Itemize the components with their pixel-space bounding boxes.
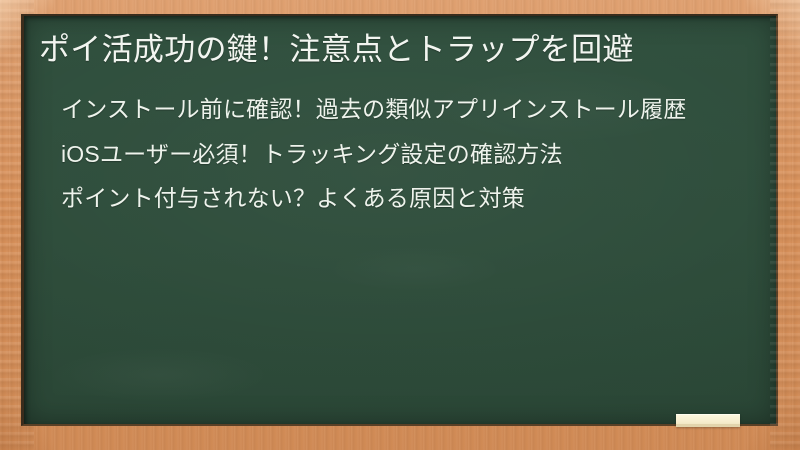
board-content: ポイ活成功の鍵！注意点とトラップを回避 インストール前に確認！過去の類似アプリイ… (24, 16, 776, 214)
chalk-eraser-icon (676, 414, 740, 427)
list-item: iOSユーザー必須！トラッキング設定の確認方法 (61, 139, 733, 170)
list-item: インストール前に確認！過去の類似アプリインストール履歴 (61, 94, 733, 125)
chalkboard-wooden-frame: ポイ活成功の鍵！注意点とトラップを回避 インストール前に確認！過去の類似アプリイ… (0, 0, 800, 450)
list-item: ポイント付与されない？よくある原因と対策 (61, 183, 733, 214)
chalk-eraser-felt (676, 424, 740, 427)
page-title: ポイ活成功の鍵！注意点とトラップを回避 (39, 30, 729, 70)
chalkboard-surface: ポイ活成功の鍵！注意点とトラップを回避 インストール前に確認！過去の類似アプリイ… (21, 14, 778, 426)
topic-list: インストール前に確認！過去の類似アプリインストール履歴 iOSユーザー必須！トラ… (39, 94, 750, 214)
